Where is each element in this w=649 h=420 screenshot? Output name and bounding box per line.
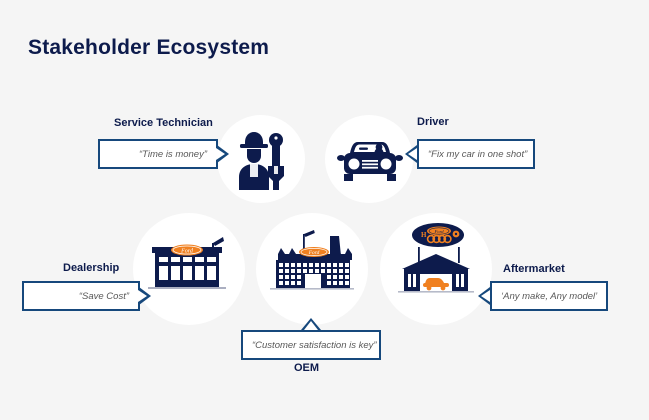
quote-bubble-oem[interactable]: “Customer satisfaction is key” [241,330,381,360]
bubble-tail-fill-service-technician [216,148,225,160]
diagram-canvas: Stakeholder Ecosystem [0,0,649,420]
quote-text-oem: “Customer satisfaction is key” [243,340,386,351]
bubble-tail-fill-aftermarket [481,290,490,302]
quote-text-driver: “Fix my car in one shot” [419,149,536,160]
factory-icon: Ford [268,228,356,302]
quote-text-dealership: “Save Cost” [24,291,138,302]
quote-text-aftermarket: ‘Any make, Any model’ [492,291,606,302]
quote-bubble-aftermarket[interactable]: ‘Any make, Any model’ [490,281,608,311]
quote-bubble-dealership[interactable]: “Save Cost” [22,281,140,311]
bubble-tail-fill-dealership [138,290,147,302]
label-service-technician: Service Technician [114,117,213,129]
svg-text:Ford: Ford [180,248,194,254]
page-title: Stakeholder Ecosystem [28,36,269,60]
label-dealership: Dealership [63,262,119,274]
dealership-storefront-icon: Ford [148,235,230,297]
car-front-icon [337,137,403,185]
technician-icon [232,128,290,190]
label-oem: OEM [294,362,319,374]
bubble-tail-fill-driver [408,148,417,160]
svg-text:Ford: Ford [308,250,320,256]
bubble-tail-fill-oem [304,321,318,330]
quote-bubble-service-technician[interactable]: “Time is money” [98,139,218,169]
label-driver: Driver [417,116,449,128]
garage-service-icon: Ford H [392,221,480,299]
svg-text:Ford: Ford [433,229,444,234]
quote-text-service-technician: “Time is money” [100,149,216,160]
svg-text:H: H [421,231,427,239]
quote-bubble-driver[interactable]: “Fix my car in one shot” [417,139,535,169]
label-aftermarket: Aftermarket [503,263,565,275]
